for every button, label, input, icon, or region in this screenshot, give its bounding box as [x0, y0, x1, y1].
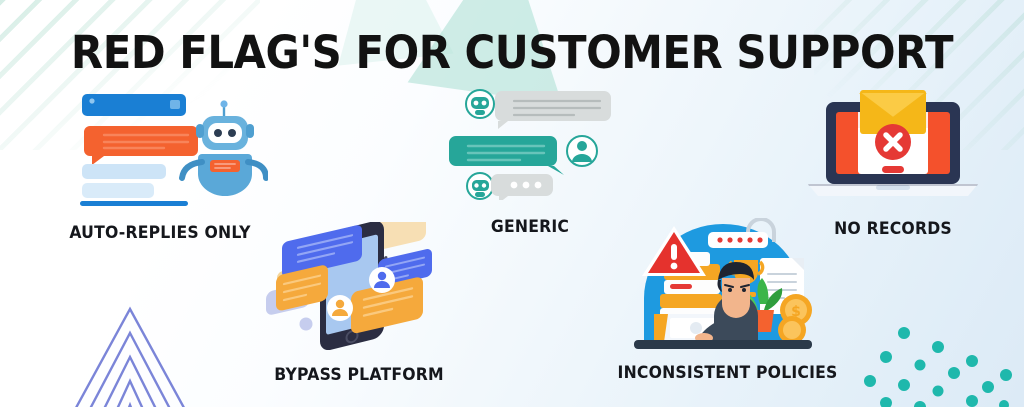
infographic-canvas: RED FLAG'S FOR CUSTOMER SUPPORT: [0, 0, 1024, 407]
item-label: INCONSISTENT POLICIES: [618, 363, 829, 382]
chatbot-auto-reply-icon: [52, 88, 268, 211]
dot-grid-bottom-right: [860, 315, 1020, 407]
page-title: RED FLAG'S FOR CUSTOMER SUPPORT: [36, 26, 988, 79]
laptop-error-envelope-icon: [800, 88, 986, 209]
item-bypass-platform: BYPASS PLATFORM: [258, 222, 460, 384]
smartphone-chat-bubbles-icon: [258, 222, 460, 355]
nested-triangles-bottom-left: [18, 303, 238, 407]
item-generic: GENERIC: [440, 88, 620, 236]
person-desk-warning-icon: $: [612, 218, 834, 355]
item-inconsistent-policies: $: [612, 218, 834, 382]
generic-chat-bubbles-icon: [440, 88, 620, 205]
item-label: BYPASS PLATFORM: [263, 365, 455, 384]
item-label: GENERIC: [445, 217, 616, 236]
item-label: AUTO-REPLIES ONLY: [57, 223, 262, 242]
item-auto-replies-only: AUTO-REPLIES ONLY: [52, 88, 268, 242]
item-no-records: NO RECORDS: [800, 88, 986, 238]
